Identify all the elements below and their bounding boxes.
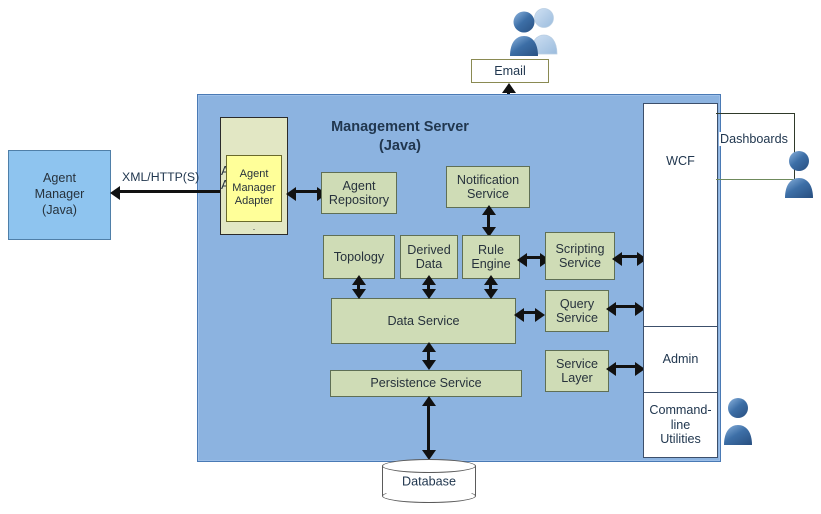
query-service-line1: Query bbox=[560, 297, 594, 311]
rule-scripting-arrow-left bbox=[517, 253, 527, 267]
data-service-label: Data Service bbox=[387, 314, 459, 328]
derived-data-line2: Data bbox=[416, 257, 443, 271]
agent-manager-line3: (Java) bbox=[42, 203, 77, 219]
cli-line2: line bbox=[671, 418, 691, 432]
derived-data-line1: Derived bbox=[407, 243, 450, 257]
cli-line1: Command- bbox=[649, 403, 711, 417]
email-recipients-actor bbox=[497, 4, 569, 56]
agent-manager-adapter-box: Agent Manager Adapter bbox=[226, 155, 282, 222]
data-query-arrow-right bbox=[535, 308, 545, 322]
management-server-title-line2: (Java) bbox=[310, 137, 490, 156]
interface-cell-command-line-utilities: Command- line Utilities bbox=[644, 393, 717, 457]
scripting-service-line2: Service bbox=[559, 256, 601, 270]
agent-manager-link-line bbox=[118, 190, 226, 193]
cli-line3: Utilities bbox=[660, 432, 701, 446]
query-wcf-arrow-left bbox=[606, 302, 616, 316]
agent-manager-line2: Manager bbox=[35, 187, 85, 203]
agent-repository-line2: Repository bbox=[329, 193, 389, 207]
data-query-arrow-left bbox=[514, 308, 524, 322]
rule-engine-line1: Rule bbox=[478, 243, 504, 257]
data-persistence-arrow-up bbox=[422, 342, 436, 352]
agent-repository-box: Agent Repository bbox=[321, 172, 397, 214]
notification-service-line1: Notification bbox=[457, 173, 519, 187]
derived-data-arrow-up bbox=[422, 275, 436, 285]
agent-manager-adapter-line2: Manager bbox=[232, 182, 275, 196]
agent-manager-line1: Agent bbox=[43, 171, 76, 187]
database-cylinder: Database bbox=[382, 459, 476, 503]
database-cylinder-top bbox=[382, 459, 476, 473]
agent-manager-adapter-line3: Adapter bbox=[235, 195, 274, 209]
management-server-title-line1: Management Server bbox=[310, 118, 490, 137]
scripting-service-box: Scripting Service bbox=[545, 232, 615, 280]
wcf-label: WCF bbox=[644, 154, 717, 168]
query-service-box: Query Service bbox=[545, 290, 609, 332]
rule-engine-box: Rule Engine bbox=[462, 235, 520, 279]
data-service-box: Data Service bbox=[331, 298, 516, 344]
email-endpoint-box: Email bbox=[471, 59, 549, 83]
agent-repository-line1: Agent bbox=[343, 179, 376, 193]
derived-data-arrow-down bbox=[422, 289, 436, 299]
rule-data-arrow-up bbox=[484, 275, 498, 285]
persistence-database-line bbox=[427, 402, 430, 456]
derived-data-box: Derived Data bbox=[400, 235, 458, 279]
scripting-wcf-arrow-left bbox=[612, 252, 622, 266]
database-cylinder-bottom bbox=[382, 489, 476, 503]
query-service-line2: Service bbox=[556, 311, 598, 325]
xml-http-label: XML/HTTP(S) bbox=[122, 170, 199, 184]
database-label: Database bbox=[382, 475, 476, 489]
topology-data-arrow-up bbox=[352, 275, 366, 285]
dashboard-user-actor bbox=[779, 148, 819, 200]
service-layer-cli-arrow-left bbox=[606, 362, 616, 376]
topology-data-arrow-down bbox=[352, 289, 366, 299]
agent-adapters-ellipsis: . bbox=[226, 222, 282, 232]
scripting-service-line1: Scripting bbox=[556, 242, 605, 256]
persistence-service-label: Persistence Service bbox=[370, 376, 481, 390]
agent-manager-adapter-line1: Agent bbox=[240, 168, 269, 182]
cli-operator-actor bbox=[718, 395, 758, 447]
dashboards-label: Dashboards bbox=[719, 132, 789, 146]
admin-label: Admin bbox=[663, 352, 699, 366]
rule-data-arrow-down bbox=[484, 289, 498, 299]
interface-cell-wcf: WCF bbox=[644, 104, 717, 326]
persistence-service-box: Persistence Service bbox=[330, 370, 522, 397]
email-link-arrow-up bbox=[502, 83, 516, 93]
agent-manager-box: Agent Manager (Java) bbox=[8, 150, 111, 240]
service-layer-line1: Service bbox=[556, 357, 598, 371]
architecture-diagram: Email Management Server (Java) Agent Man… bbox=[0, 0, 821, 514]
notification-rule-arrow-up bbox=[482, 205, 496, 215]
notification-service-box: Notification Service bbox=[446, 166, 530, 208]
email-label: Email bbox=[494, 64, 526, 78]
topology-label: Topology bbox=[334, 250, 384, 264]
persistence-database-arrow-up bbox=[422, 396, 436, 406]
rule-engine-line2: Engine bbox=[471, 257, 510, 271]
management-server-title: Management Server (Java) bbox=[310, 118, 490, 156]
interface-cell-admin: Admin bbox=[644, 327, 717, 392]
adapters-repository-arrow-left bbox=[286, 187, 296, 201]
service-layer-box: Service Layer bbox=[545, 350, 609, 392]
topology-box: Topology bbox=[323, 235, 395, 279]
agent-manager-link-arrow-left bbox=[110, 186, 120, 200]
data-persistence-arrow-down bbox=[422, 360, 436, 370]
service-layer-line2: Layer bbox=[561, 371, 593, 385]
notification-service-line2: Service bbox=[467, 187, 509, 201]
